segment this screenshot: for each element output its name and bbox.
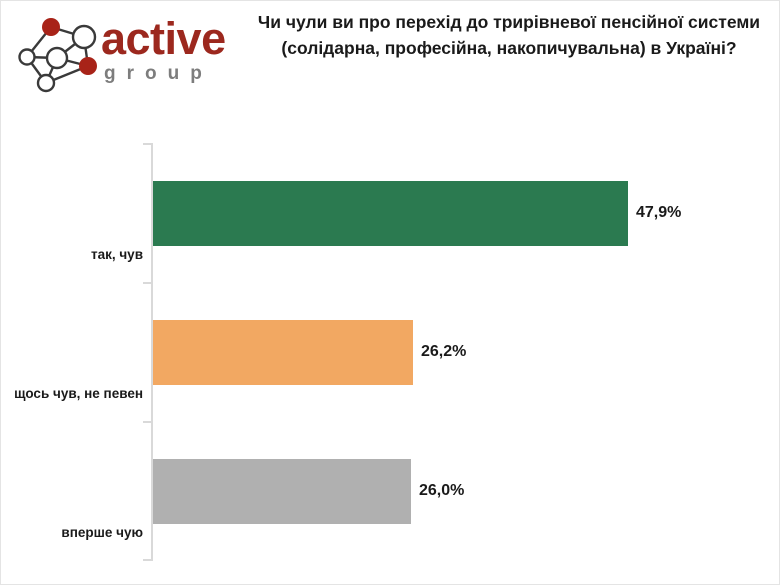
bar-value-label: 26,2% [421,342,466,362]
bar-chart-plot: так, чув 47,9% щось чув, не певен 26,2% … [1,101,780,585]
chart-title-line-2: (солідарна, професійна, накопичувальна) … [239,35,779,61]
chart-header: active group Чи чули ви про перехід до т… [1,1,780,101]
network-graph-icon [13,11,101,99]
logo-wordmark: active group [101,15,241,95]
active-group-logo: active group [9,7,241,95]
bar-value-label: 47,9% [636,203,681,223]
bar-segment[interactable] [153,181,628,246]
bar-row: вперше чую 26,0% [1,421,780,561]
bar-row: так, чув 47,9% [1,143,780,283]
logo-wordmark-active: active [101,15,226,63]
bar-value-label: 26,0% [419,481,464,501]
category-label: щось чув, не певен [1,386,143,402]
bar-segment[interactable] [153,320,413,385]
logo-wordmark-group: group [104,63,213,85]
category-label: так, чув [1,247,143,263]
chart-title: Чи чули ви про перехід до трирівневої пе… [239,9,779,61]
bar-segment[interactable] [153,459,411,524]
bar-row: щось чув, не певен 26,2% [1,282,780,422]
chart-page: active group Чи чули ви про перехід до т… [0,0,780,585]
category-label: вперше чую [1,525,143,541]
chart-title-line-1: Чи чули ви про перехід до трирівневої пе… [239,9,779,35]
